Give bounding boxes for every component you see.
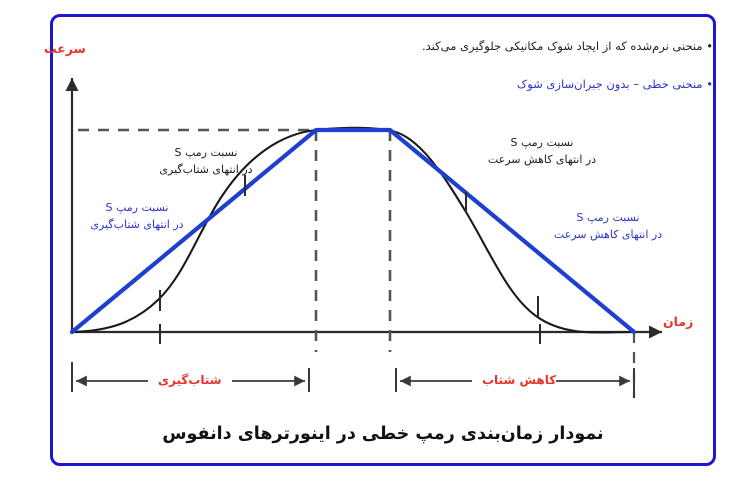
legend-item-linear: • منحنی خطی – بدون جبران‌سازی شوک (413, 78, 713, 91)
diagram-caption: نمودار زمان‌بندی رمپ خطی در اینورترهای د… (50, 424, 716, 444)
annotation-s-ratio-accel-blue-line2: در انتهای شتاب‌گیری (62, 216, 212, 233)
diagram-stage: سرعت زمان • منحنی نرم‌شده که از ایجاد شو… (0, 0, 750, 482)
legend-text-s-curve: منحنی نرم‌شده که از ایجاد شوک مکانیکی جل… (422, 39, 703, 53)
annotation-s-ratio-decel-blue: نسبت رمپ S در انتهای کاهش سرعت (528, 209, 688, 243)
annotation-s-ratio-accel-blue-line1: نسبت رمپ S (62, 199, 212, 216)
annotation-s-ratio-accel-dark-line1: نسبت رمپ S (131, 144, 281, 161)
annotation-s-ratio-decel-dark: نسبت رمپ S در انتهای کاهش سرعت (462, 134, 622, 168)
legend-bullet-linear: • (706, 77, 713, 91)
annotation-s-ratio-accel-dark-line2: در انتهای شتاب‌گیری (131, 161, 281, 178)
annotation-s-ratio-decel-blue-line2: در انتهای کاهش سرعت (528, 226, 688, 243)
span-label-acceleration: شتاب‌گیری (158, 374, 222, 388)
annotation-s-ratio-accel-dark: نسبت رمپ S در انتهای شتاب‌گیری (131, 144, 281, 178)
x-axis-label: زمان (663, 315, 693, 329)
legend-bullet-s-curve: • (706, 39, 713, 53)
annotation-s-ratio-decel-dark-line1: نسبت رمپ S (462, 134, 622, 151)
annotation-s-ratio-accel-blue: نسبت رمپ S در انتهای شتاب‌گیری (62, 199, 212, 233)
legend-text-linear: منحنی خطی – بدون جبران‌سازی شوک (517, 77, 703, 91)
span-label-deceleration: کاهش شتاب (482, 374, 556, 388)
annotation-s-ratio-decel-blue-line1: نسبت رمپ S (528, 209, 688, 226)
y-axis-label: سرعت (44, 42, 86, 56)
annotation-s-ratio-decel-dark-line2: در انتهای کاهش سرعت (462, 151, 622, 168)
legend-item-s-curve: • منحنی نرم‌شده که از ایجاد شوک مکانیکی … (413, 40, 713, 53)
